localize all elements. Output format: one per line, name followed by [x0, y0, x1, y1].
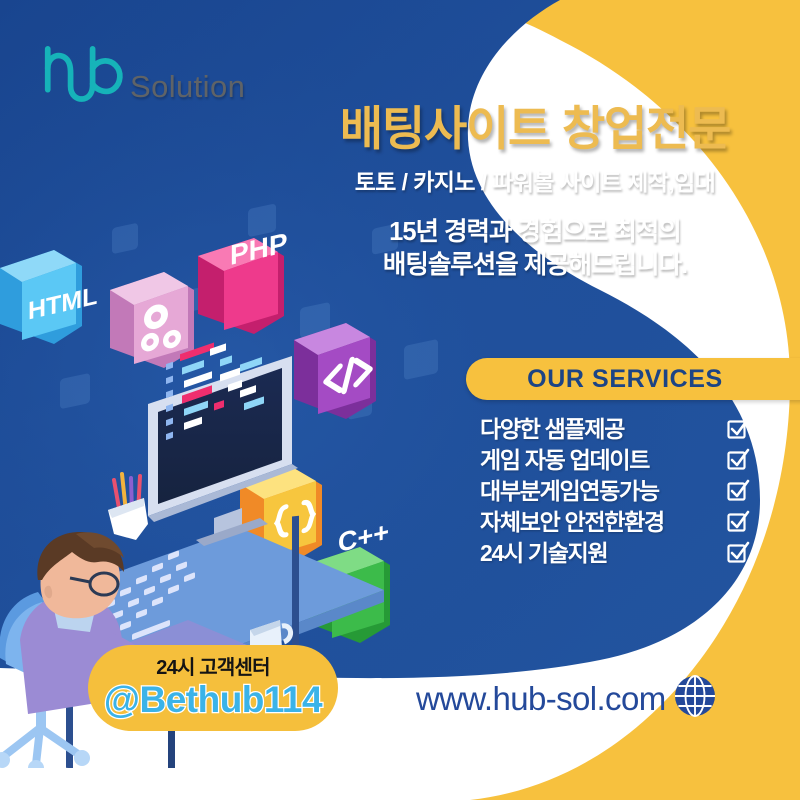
customer-center-label: 24시 고객센터 — [156, 658, 269, 678]
service-label: 자체보안 안전한환경 — [480, 511, 664, 534]
service-item: 게임 자동 업데이트 — [480, 445, 750, 475]
hero-subtitle: 토토 / 카지노 / 파워볼 사이트 제작,임대 — [300, 169, 770, 197]
checkbox-checked-icon — [726, 510, 750, 534]
service-label: 게임 자동 업데이트 — [480, 449, 649, 472]
hero-pitch-line-2: 배팅솔루션을 제공해드립니다. — [300, 249, 770, 282]
service-label: 대부분게임연동가능 — [480, 480, 659, 503]
badge-php: PHP — [198, 228, 288, 334]
services-list: 다양한 샘플제공 게임 자동 업데이트 대부분게임연동가능 자체보안 안전한환경… — [480, 414, 750, 569]
hero-text-block: 배팅사이트 창업전문 토토 / 카지노 / 파워볼 사이트 제작,임대 15년 … — [300, 104, 770, 282]
checkbox-checked-icon — [726, 417, 750, 441]
checkbox-checked-icon — [726, 448, 750, 472]
logo-wordmark: Solution — [130, 71, 245, 102]
promo-banner: Solution HTML — [0, 0, 800, 800]
page-title: 배팅사이트 창업전문 — [300, 104, 770, 155]
service-label: 다양한 샘플제공 — [480, 418, 624, 441]
service-item: 자체보안 안전한환경 — [480, 507, 750, 537]
pencil-cup — [108, 474, 148, 540]
service-item: 다양한 샘플제공 — [480, 414, 750, 444]
checkbox-checked-icon — [726, 541, 750, 565]
checkbox-checked-icon — [726, 479, 750, 503]
badge-html: HTML — [0, 250, 97, 344]
website-url[interactable]: www.hub-sol.com — [416, 682, 666, 715]
badge-code-tag — [294, 323, 376, 419]
service-item: 24시 기술지원 — [480, 538, 750, 568]
customer-center-pill[interactable]: 24시 고객센터 @Bethub114 — [88, 645, 338, 731]
service-label: 24시 기술지원 — [480, 542, 607, 565]
service-item: 대부분게임연동가능 — [480, 476, 750, 506]
hub-logo-mark — [36, 44, 128, 106]
svg-text:C++: C++ — [338, 516, 389, 558]
our-services-label: OUR SERVICES — [527, 365, 723, 394]
badge-gears — [110, 272, 194, 368]
brand-logo: Solution — [36, 44, 245, 106]
messenger-handle[interactable]: @Bethub114 — [104, 681, 322, 718]
our-services-banner: OUR SERVICES — [466, 358, 800, 400]
globe-icon — [672, 673, 718, 719]
hero-pitch: 15년 경력과 경험으로 최적의 배팅솔루션을 제공해드립니다. — [300, 216, 770, 281]
hero-pitch-line-1: 15년 경력과 경험으로 최적의 — [300, 216, 770, 249]
